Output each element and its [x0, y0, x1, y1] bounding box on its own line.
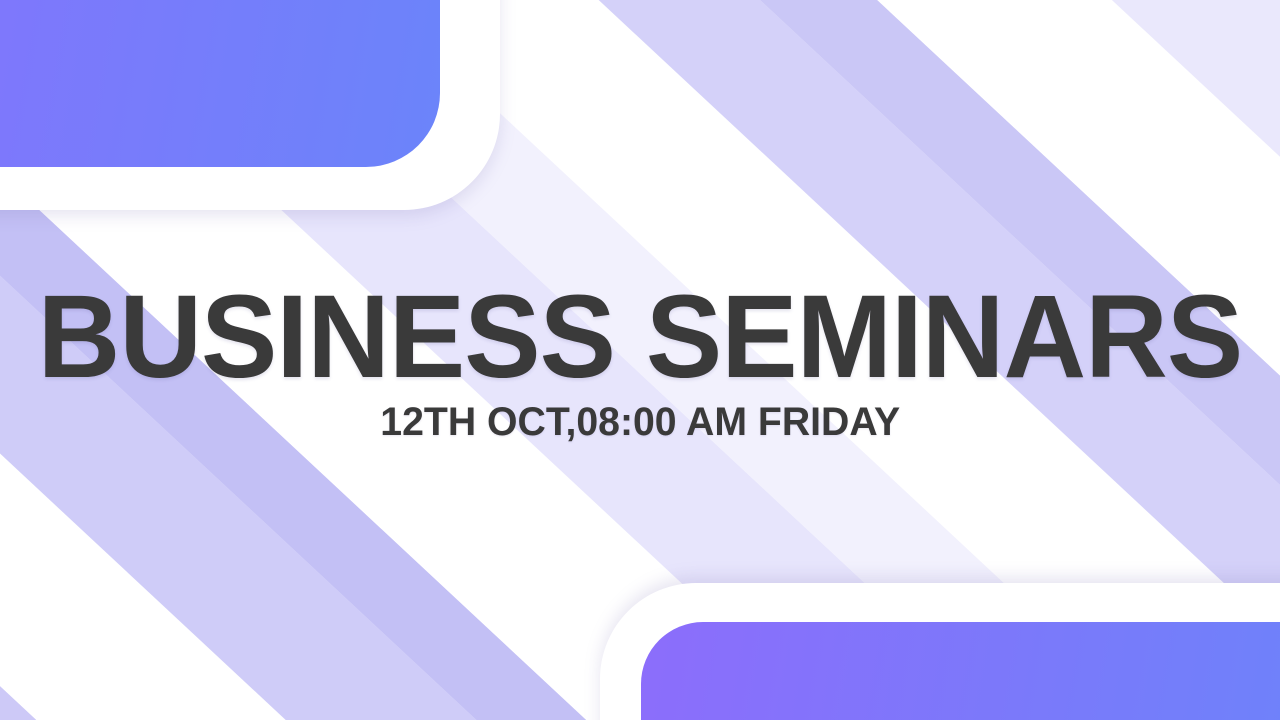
page-title: BUSINESS SEMINARS: [38, 278, 1243, 396]
headline-block: BUSINESS SEMINARS 12TH OCT,08:00 AM FRID…: [0, 0, 1280, 720]
slide-canvas: BUSINESS SEMINARS 12TH OCT,08:00 AM FRID…: [0, 0, 1280, 720]
event-datetime: 12TH OCT,08:00 AM FRIDAY: [380, 402, 900, 442]
